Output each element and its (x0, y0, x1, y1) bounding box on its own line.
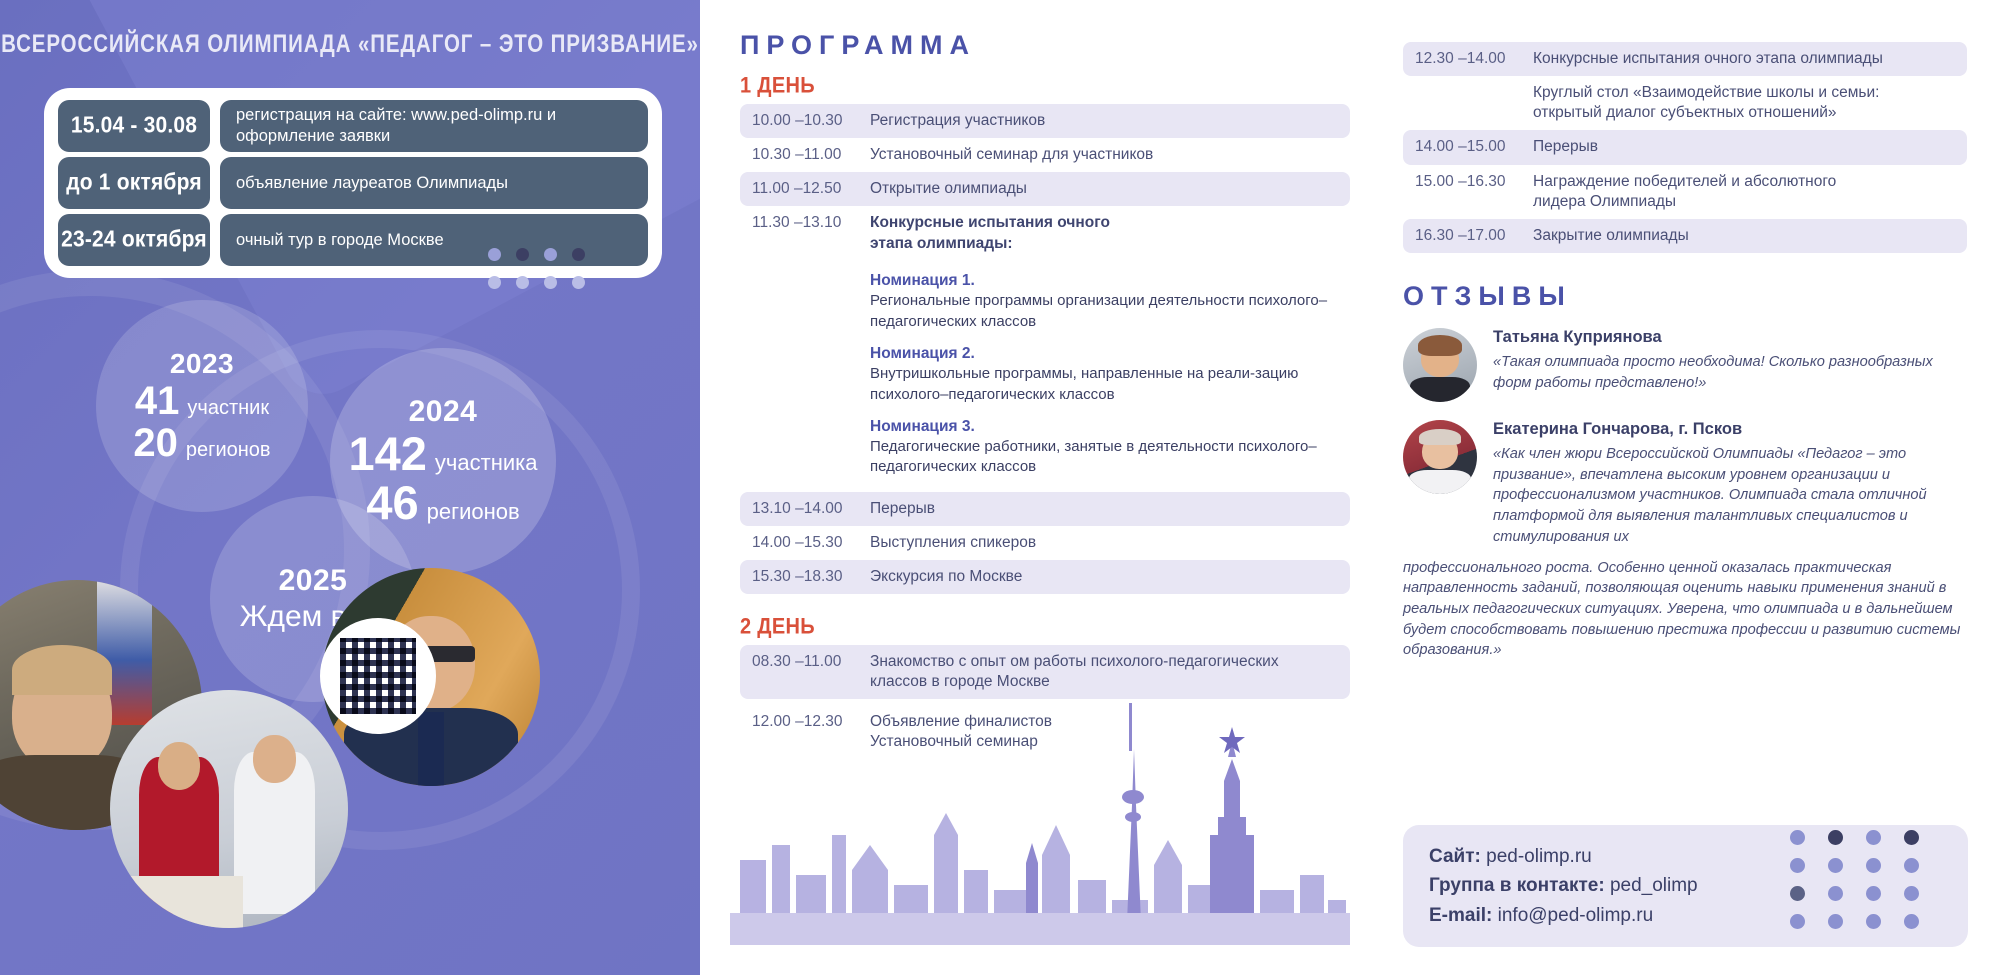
day1-schedule-tail: 13.10 –14.00 Перерыв 14.00 –15.30 Выступ… (740, 492, 1350, 594)
date-chip: 15.04 - 30.08 (58, 100, 210, 152)
day2-heading: 2 ДЕНЬ (740, 616, 1350, 639)
row-text: Открытие олимпиады (870, 179, 1338, 199)
review-body: Екатерина Гончарова, г. Псков «Как член … (1493, 420, 1967, 548)
left-panel: ВСЕРОССИЙСКАЯ ОЛИМПИАДА «ПЕДАГОГ – ЭТО П… (0, 0, 700, 975)
row-time: 10.30 –11.00 (752, 145, 870, 165)
review-text-continued: профессионального роста. Особенно ценной… (1403, 558, 1967, 662)
stat-number: 20 (133, 422, 178, 464)
row-text: Конкурсные испытания очного этапа олимпи… (1533, 49, 1955, 69)
contact-vk-label: Группа в контакте: (1429, 875, 1605, 896)
nominations-block: Номинация 1. Региональные программы орга… (740, 261, 1350, 478)
photo-two-participants (110, 690, 348, 928)
row-text: Регистрация участников (870, 111, 1338, 131)
stat-label: участник (187, 397, 269, 420)
schedule-row: 14.00 –15.30 Выступления спикеров (740, 526, 1350, 560)
day1-label: 1 ДЕНЬ (740, 74, 815, 100)
review-item: Екатерина Гончарова, г. Псков «Как член … (1403, 420, 1967, 548)
schedule-row: 15.00 –16.30 Награждение победителей и а… (1403, 165, 1967, 219)
nomination-heading: Номинация 1. (870, 271, 1338, 292)
review-body: Татьяна Куприянова «Такая олимпиада прос… (1493, 328, 1967, 402)
row-text: Закрытие олимпиады (1533, 226, 1955, 246)
stat-regions: 46 регионов (366, 478, 519, 527)
decorative-dot-grid (1790, 830, 1942, 942)
schedule-row: 16.30 –17.00 Закрытие олимпиады (1403, 219, 1967, 253)
schedule-row: Круглый стол «Взаимодействие школы и сем… (1403, 76, 1967, 130)
date-chip: до 1 октября (58, 157, 210, 209)
row-text: Конкурсные испытания очного этапа олимпи… (870, 213, 1110, 253)
date-description: объявление лауреатов Олимпиады (220, 157, 648, 209)
date-chip-label: 23-24 октября (61, 227, 207, 254)
reviews-column: 12.30 –14.00 Конкурсные испытания очного… (1385, 0, 1985, 975)
stat-circle-2023: 2023 41 участник 20 регионов (96, 300, 308, 512)
day2-schedule-continued: 12.30 –14.00 Конкурсные испытания очного… (1403, 42, 1967, 253)
date-chip-label: 15.04 - 30.08 (71, 113, 197, 140)
contact-email[interactable]: E-mail: info@ped-olimp.ru (1429, 901, 1698, 930)
avatar (1403, 420, 1477, 494)
schedule-row: 10.30 –11.00 Установочный семинар для уч… (740, 138, 1350, 172)
nomination-text: Внутришкольные программы, направленные н… (870, 364, 1338, 404)
schedule-row: 11.00 –12.50 Открытие олимпиады (740, 172, 1350, 206)
stat-label: участника (435, 450, 538, 476)
row-text: Круглый стол «Взаимодействие школы и сем… (1533, 83, 1893, 123)
stat-regions: 20 регионов (133, 422, 270, 464)
row-time: 11.00 –12.50 (752, 179, 870, 199)
contact-vk-value: ped_olimp (1610, 875, 1698, 896)
schedule-row: 10.00 –10.30 Регистрация участников (740, 104, 1350, 138)
stat-label: регионов (427, 499, 520, 525)
row-time: 15.00 –16.30 (1415, 172, 1533, 192)
key-date-row: до 1 октября объявление лауреатов Олимпи… (58, 157, 648, 209)
contact-card: Сайт: ped-olimp.ru Группа в контакте: pe… (1403, 825, 1968, 947)
schedule-row: 15.30 –18.30 Экскурсия по Москве (740, 560, 1350, 594)
date-description: регистрация на сайте: www.ped-olimp.ru и… (220, 100, 648, 152)
review-text: «Такая олимпиада просто необходима! Скол… (1493, 352, 1967, 393)
review-text: «Как член жюри Всероссийской Олимпиады «… (1493, 444, 1967, 548)
row-text: Перерыв (870, 499, 1338, 519)
avatar (1403, 328, 1477, 402)
row-text: Установочный семинар для участников (870, 145, 1338, 165)
stat-number: 41 (135, 380, 180, 422)
decorative-dot-grid (488, 248, 600, 304)
review-item: Татьяна Куприянова «Такая олимпиада прос… (1403, 328, 1967, 402)
stat-label: регионов (186, 439, 271, 462)
date-chip: 23-24 октября (58, 214, 210, 266)
row-time: 11.30 –13.10 (752, 213, 870, 233)
day1-heading: 1 ДЕНЬ (740, 75, 1350, 98)
date-chip-label: до 1 октября (66, 170, 202, 197)
row-time: 14.00 –15.00 (1415, 137, 1533, 157)
row-time: 12.30 –14.00 (1415, 49, 1533, 69)
schedule-row: 13.10 –14.00 Перерыв (740, 492, 1350, 526)
schedule-row: 12.30 –14.00 Конкурсные испытания очного… (1403, 42, 1967, 76)
row-text: Перерыв (1533, 137, 1955, 157)
row-text: Экскурсия по Москве (870, 567, 1338, 587)
poster-root: ВСЕРОССИЙСКАЯ ОЛИМПИАДА «ПЕДАГОГ – ЭТО П… (0, 0, 2000, 975)
stat-participants: 142 участника (349, 429, 538, 478)
schedule-row: 14.00 –15.00 Перерыв (1403, 130, 1967, 164)
contact-lines: Сайт: ped-olimp.ru Группа в контакте: pe… (1429, 842, 1698, 930)
moscow-skyline-illustration (730, 685, 1350, 945)
row-time: 13.10 –14.00 (752, 499, 870, 519)
nomination-heading: Номинация 3. (870, 417, 1338, 438)
row-time: 10.00 –10.30 (752, 111, 870, 131)
schedule-row: 11.30 –13.10 Конкурсные испытания очного… (740, 206, 1350, 260)
row-time: 14.00 –15.30 (752, 533, 870, 553)
key-date-row: 15.04 - 30.08 регистрация на сайте: www.… (58, 100, 648, 152)
nomination-text: Педагогические работники, занятые в деят… (870, 437, 1338, 477)
day2-label: 2 ДЕНЬ (740, 615, 815, 641)
contact-email-label: E-mail: (1429, 905, 1492, 926)
program-column: ПРОГРАММА 1 ДЕНЬ 10.00 –10.30 Регистраци… (740, 0, 1350, 975)
contact-email-value: info@ped-olimp.ru (1498, 905, 1654, 926)
stat-year: 2024 (409, 395, 478, 429)
page-title: ВСЕРОССИЙСКАЯ ОЛИМПИАДА «ПЕДАГОГ – ЭТО П… (0, 30, 700, 59)
qr-code-pattern (340, 638, 416, 714)
day1-schedule: 10.00 –10.30 Регистрация участников 10.3… (740, 104, 1350, 261)
contact-site-label: Сайт: (1429, 846, 1481, 867)
stat-participants: 41 участник (135, 380, 269, 422)
program-heading: ПРОГРАММА (740, 30, 1350, 61)
nomination-text: Региональные программы организации деяте… (870, 291, 1338, 331)
nomination-heading: Номинация 2. (870, 344, 1338, 365)
row-time: 16.30 –17.00 (1415, 226, 1533, 246)
reviews-heading: ОТЗЫВЫ (1403, 281, 1967, 312)
row-text: Выступления спикеров (870, 533, 1338, 553)
review-author: Татьяна Куприянова (1493, 328, 1967, 347)
review-author: Екатерина Гончарова, г. Псков (1493, 420, 1967, 439)
contact-site[interactable]: Сайт: ped-olimp.ru (1429, 842, 1698, 871)
row-time: 15.30 –18.30 (752, 567, 870, 587)
stat-number: 142 (349, 429, 427, 478)
contact-vk[interactable]: Группа в контакте: ped_olimp (1429, 871, 1698, 900)
row-time: 08.30 –11.00 (752, 652, 870, 672)
qr-code[interactable] (320, 618, 436, 734)
contact-site-value: ped-olimp.ru (1486, 846, 1592, 867)
stat-year: 2023 (170, 348, 234, 380)
row-text: Награждение победителей и абсолютного ли… (1533, 172, 1883, 212)
